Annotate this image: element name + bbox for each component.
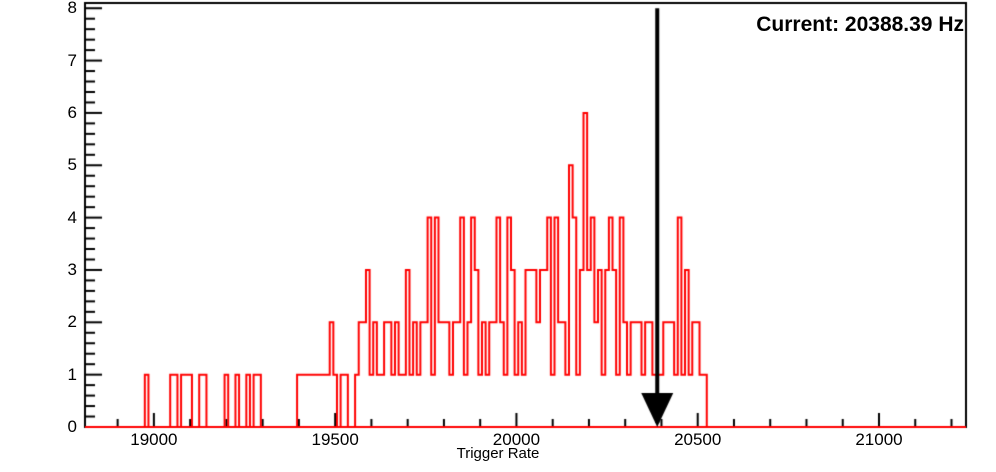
y-tick-label: 5 (47, 155, 77, 175)
y-tick-label: 1 (47, 365, 77, 385)
y-tick-label: 3 (47, 260, 77, 280)
trigger-rate-histogram-panel: Current: 20388.39 Hz Trigger Rate 190001… (0, 0, 996, 472)
y-tick-label: 2 (47, 312, 77, 332)
histogram-canvas (0, 0, 996, 472)
x-tick-label: 21000 (855, 430, 902, 450)
y-tick-label: 7 (47, 51, 77, 71)
x-tick-label: 19500 (312, 430, 359, 450)
x-tick-label: 20000 (493, 430, 540, 450)
y-tick-label: 4 (47, 208, 77, 228)
y-tick-label: 6 (47, 103, 77, 123)
y-tick-label: 8 (47, 0, 77, 18)
x-tick-label: 20500 (674, 430, 721, 450)
x-tick-label: 19000 (130, 430, 177, 450)
current-rate-readout: Current: 20388.39 Hz (756, 13, 964, 37)
y-tick-label: 0 (47, 417, 77, 437)
